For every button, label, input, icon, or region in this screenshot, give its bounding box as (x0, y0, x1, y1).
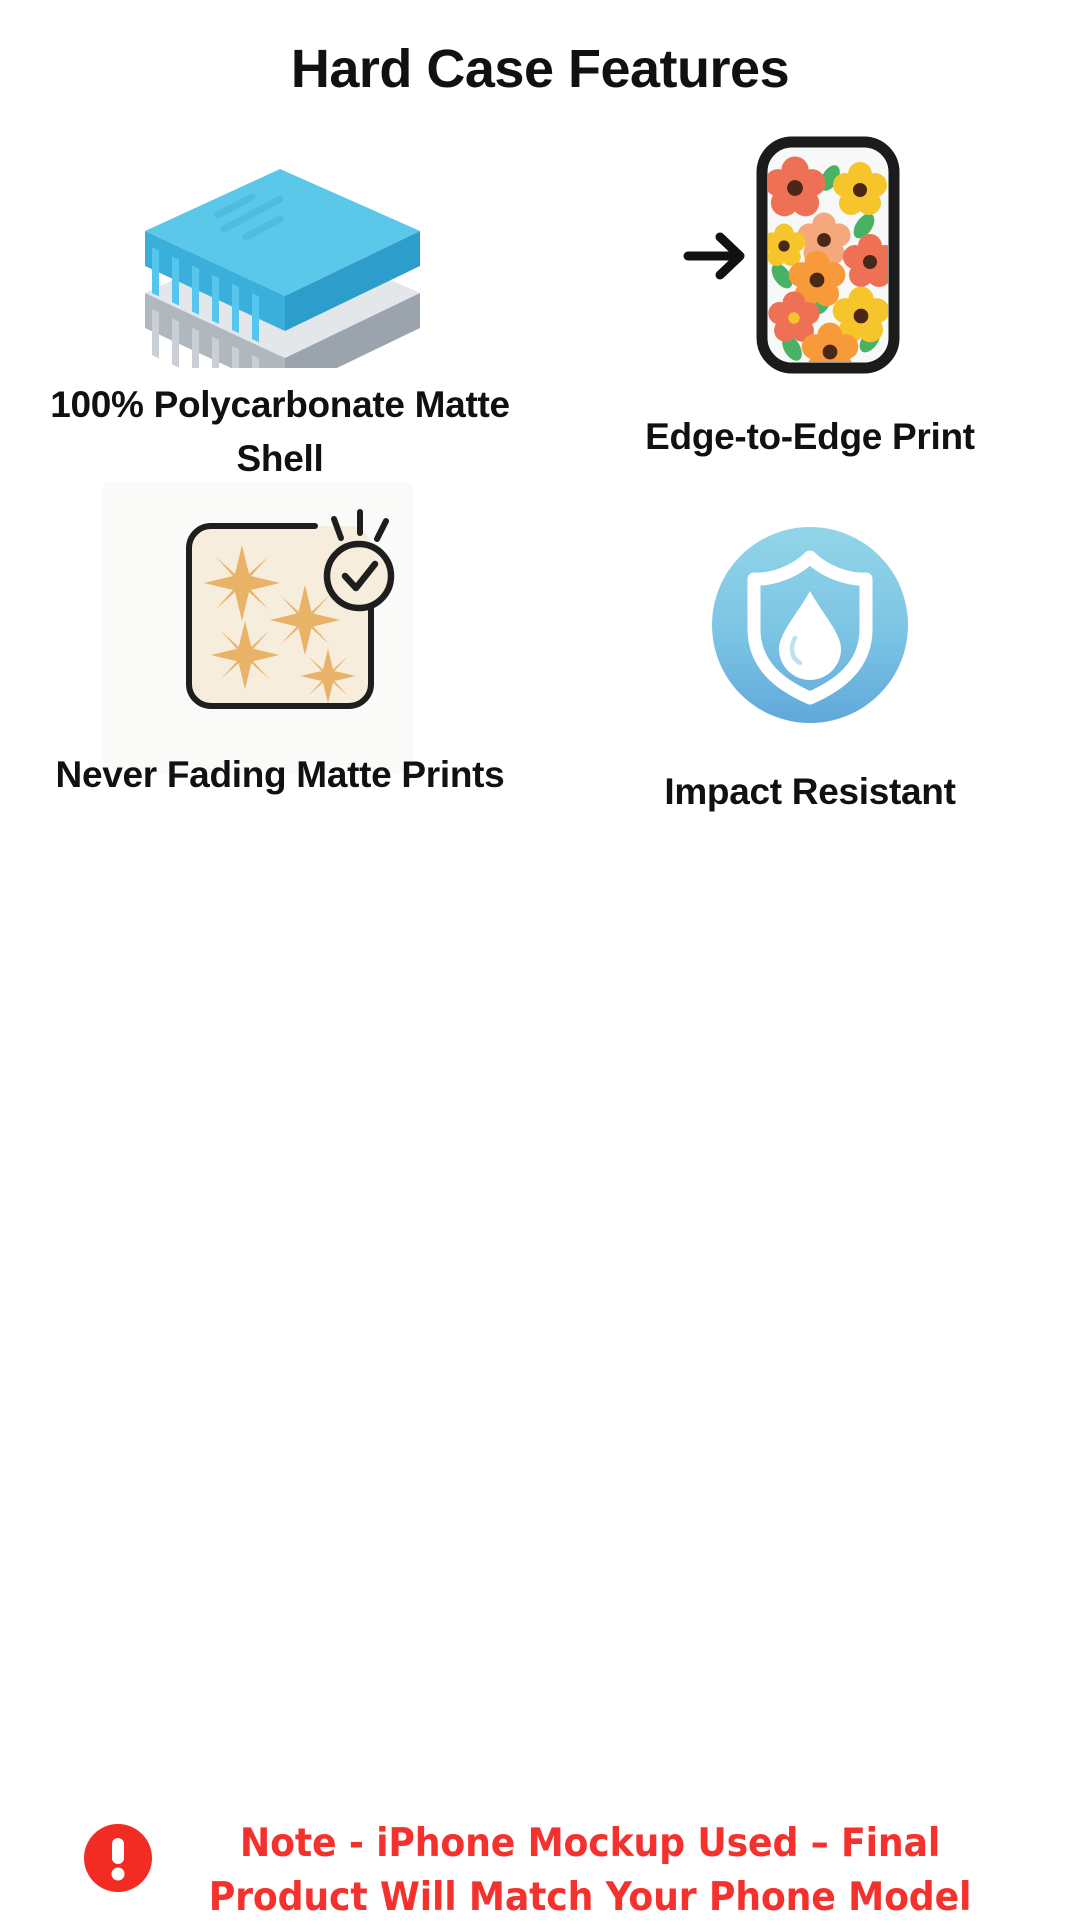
feature-polycarbonate (20, 150, 540, 370)
feature-impact-resistant (560, 505, 1060, 745)
note-text: Note - iPhone Mockup Used – Final Produc… (181, 1817, 999, 1925)
floral-phone-case-svg (680, 130, 940, 380)
feature-edge-to-edge (560, 130, 1060, 380)
sparkle-card-check-icon (20, 470, 540, 740)
feature-infographic: Hard Case Features (0, 0, 1080, 1080)
shield-droplet-svg (710, 525, 910, 725)
layered-slabs-icon (20, 150, 540, 370)
arrow-right-icon (688, 237, 740, 275)
layered-slabs-svg (130, 153, 430, 368)
feature-never-fading (20, 470, 540, 740)
sparkle-card-check-svg (165, 490, 395, 720)
feature-label-impact-resistant: Impact Resistant (560, 765, 1060, 819)
feature-label-never-fading: Never Fading Matte Prints (20, 748, 540, 802)
floral-phone-case-icon (560, 130, 1060, 380)
feature-label-edge-to-edge: Edge-to-Edge Print (560, 410, 1060, 464)
badge-rays (334, 512, 386, 539)
check-badge-icon (327, 512, 391, 608)
page-title: Hard Case Features (0, 38, 1080, 100)
phone-case (762, 142, 897, 378)
note-banner: Note - iPhone Mockup Used – Final Produc… (0, 905, 1080, 1025)
exclamation-circle-icon (84, 1824, 152, 1892)
shield-droplet-icon (560, 505, 1060, 745)
